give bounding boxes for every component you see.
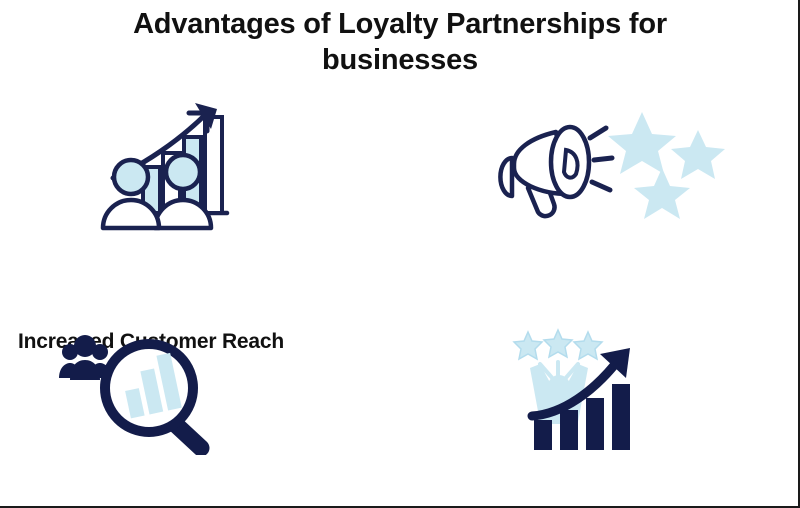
page-title-line-2: businesses	[80, 42, 720, 78]
page-title: Advantages of Loyalty Partnerships for b…	[80, 6, 720, 79]
page-title-line-1: Advantages of Loyalty Partnerships for	[80, 6, 720, 42]
megaphone-with-stars-icon	[490, 100, 730, 230]
celebrating-person-with-growth-chart-icon	[510, 328, 650, 453]
card-enhanced-brand-awareness: Enhanced Brand Awareness	[400, 95, 800, 275]
card-enhanced-customer-confidence: Enhanced Customer Confidence	[400, 320, 800, 500]
growth-chart-with-people-icon	[95, 95, 245, 235]
infographic-slide: Advantages of Loyalty Partnerships for b…	[0, 0, 800, 508]
card-increased-customer-reach: Increased Customer Reach	[0, 95, 400, 275]
magnifier-with-bar-chart-icon	[55, 330, 225, 455]
card-rich-customer-data: Rich Customer Data	[0, 320, 400, 500]
